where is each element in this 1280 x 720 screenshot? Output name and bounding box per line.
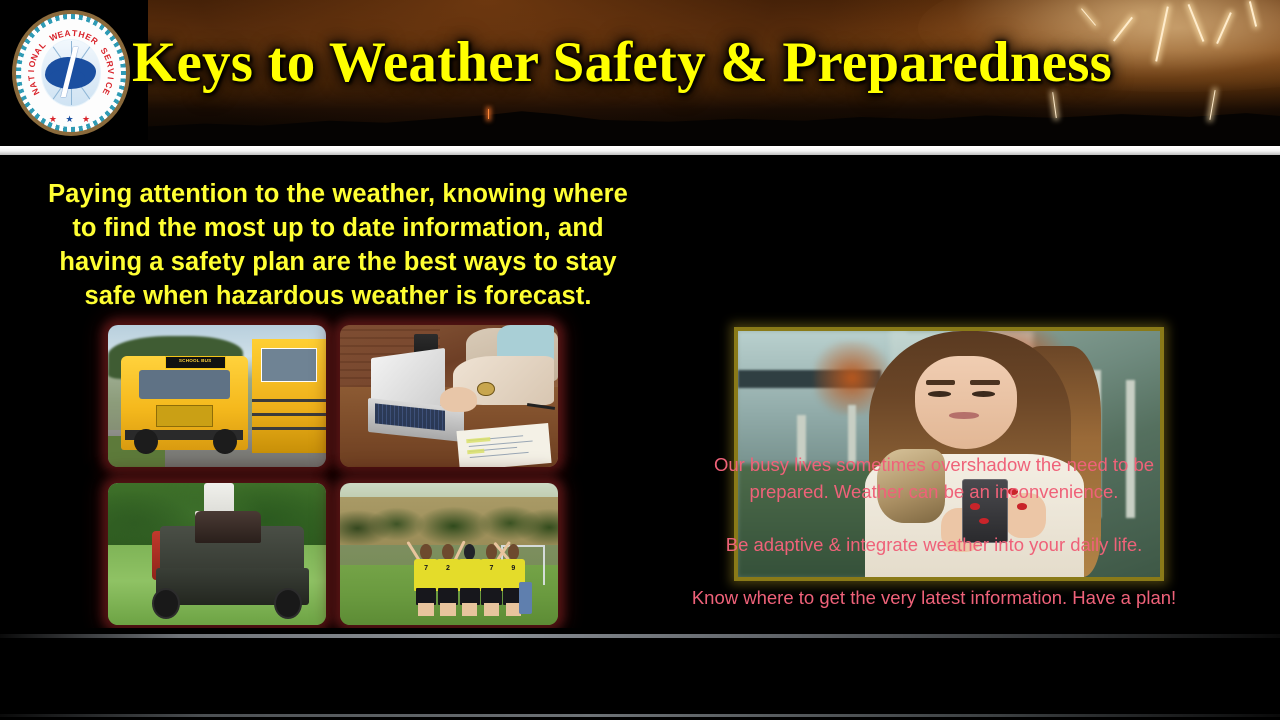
laptop-office-photo — [340, 325, 558, 467]
lead-line: safe when hazardous weather is forecast. — [14, 279, 662, 313]
youth-soccer-photo: 7 2 7 — [340, 483, 558, 625]
slide-body: Paying attention to the weather, knowing… — [0, 155, 1280, 628]
lead-line: Paying attention to the weather, knowing… — [14, 177, 662, 211]
photo-grid: SCHOOL BUS — [108, 325, 568, 625]
school-bus-sign-text: SCHOOL BUS — [166, 357, 225, 364]
page-title: Keys to Weather Safety & Preparedness — [132, 30, 1262, 95]
footer-bottom-rule — [0, 714, 1280, 717]
right-paragraph-3: Know where to get the very latest inform… — [598, 584, 1270, 611]
lead-paragraph: Paying attention to the weather, knowing… — [14, 177, 662, 313]
lead-line: having a safety plan are the best ways t… — [14, 245, 662, 279]
right-paragraph-2: Be adaptive & integrate weather into you… — [598, 531, 1270, 558]
footer-top-rule — [0, 634, 1280, 638]
slide-root: NATIONAL WEATHER SERVICE ★ ★ ★ Keys to W… — [0, 0, 1280, 720]
footer-bar: NATIONAL OCEANIC AND ATMOSPHERIC ADMINIS… — [0, 628, 1280, 720]
right-paragraph-1: Our busy lives sometimes overshadow the … — [598, 451, 1270, 505]
horizon-silhouette — [148, 92, 1280, 140]
school-bus-photo: SCHOOL BUS — [108, 325, 326, 467]
lawn-mower-photo — [108, 483, 326, 625]
nws-seal-icon: NATIONAL WEATHER SERVICE ★ ★ ★ — [12, 10, 130, 136]
lead-line: to find the most up to date information,… — [14, 211, 662, 245]
header-banner: NATIONAL WEATHER SERVICE ★ ★ ★ Keys to W… — [0, 0, 1280, 146]
header-divider — [0, 146, 1280, 155]
right-paragraphs: Our busy lives sometimes overshadow the … — [598, 451, 1270, 611]
